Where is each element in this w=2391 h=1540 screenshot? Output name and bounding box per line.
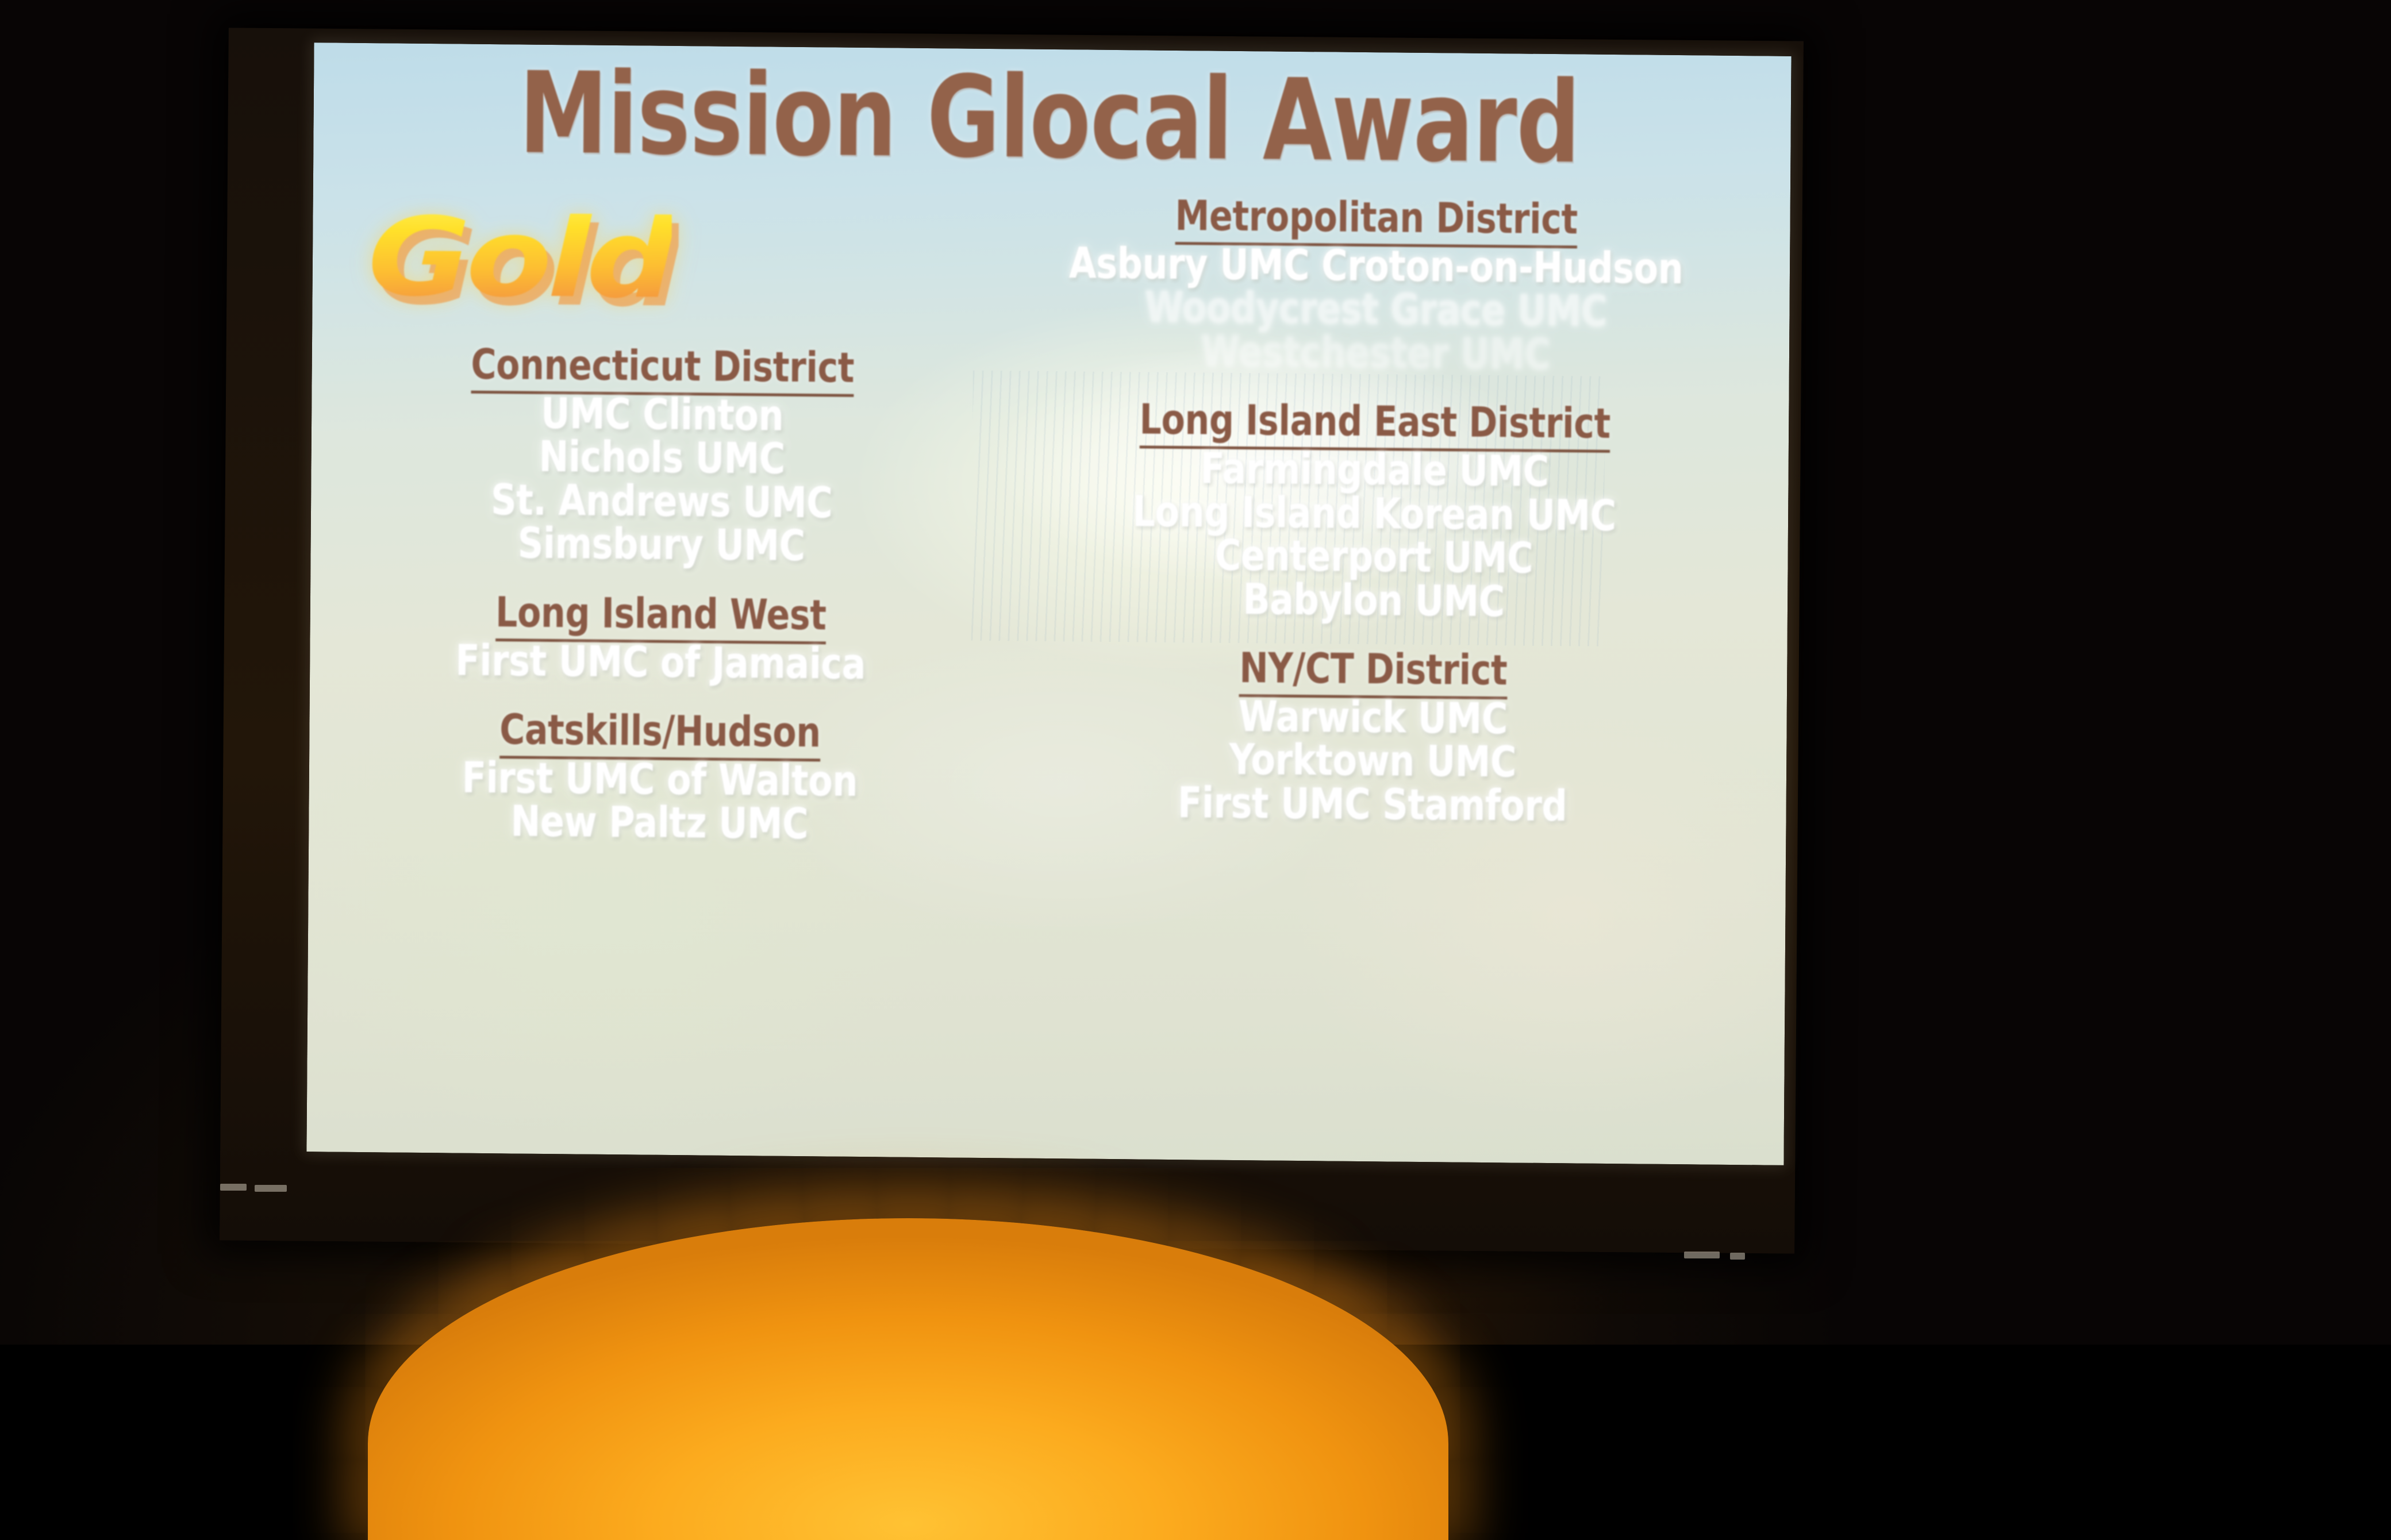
district-heading-label: Connecticut District: [471, 340, 854, 397]
left-district-column: Connecticut District UMC Clinton Nichols…: [337, 342, 985, 873]
church-item: Nichols UMC: [363, 434, 962, 483]
right-district-column: Metropolitan District Asbury UMC Croton-…: [981, 192, 1767, 856]
frame-rail-mark: [1684, 1252, 1720, 1258]
district-group-ny-ct: NY/CT District Warwick UMC Yorktown UMC …: [981, 644, 1764, 830]
frame-rail-mark: [255, 1185, 287, 1192]
church-item: Westchester UMC: [1012, 328, 1739, 378]
church-item: Babylon UMC: [1010, 576, 1737, 626]
district-heading-long-island-west: Long Island West: [362, 590, 960, 638]
district-group-long-island-west: Long Island West First UMC of Jamaica: [339, 589, 983, 687]
church-item: Yorktown UMC: [1009, 737, 1736, 787]
church-item: UMC Clinton: [363, 391, 962, 440]
district-heading-connecticut: Connecticut District: [363, 342, 962, 390]
church-item: Warwick UMC: [1009, 693, 1736, 743]
gold-award-wordmark: Gold: [367, 194, 672, 322]
church-item: Simsbury UMC: [362, 521, 961, 569]
district-heading-long-island-east: Long Island East District: [1012, 397, 1739, 447]
district-heading-label: Long Island West: [495, 588, 827, 644]
church-item: First UMC Stamford: [1009, 780, 1736, 830]
projection-screen-assembly: Mission Glocal Award Gold Connecticut Di…: [0, 0, 2391, 1345]
slide-content: Mission Glocal Award Gold Connecticut Di…: [306, 43, 1791, 1165]
district-heading-label: NY/CT District: [1239, 644, 1508, 699]
church-item: Farmingdale UMC: [1011, 446, 1738, 496]
district-group-connecticut: Connecticut District UMC Clinton Nichols…: [339, 342, 985, 570]
district-heading-catskills-hudson: Catskills/Hudson: [360, 707, 959, 755]
church-item: Woodycrest Grace UMC: [1012, 285, 1739, 335]
district-heading-metropolitan: Metropolitan District: [1013, 192, 1740, 242]
page-title: Mission Glocal Award: [437, 56, 1662, 180]
district-group-long-island-east: Long Island East District Farmingdale UM…: [983, 396, 1766, 626]
orange-lamp-dome: [368, 1218, 1448, 1540]
church-item: New Paltz UMC: [360, 799, 959, 848]
district-heading-ny-ct: NY/CT District: [1010, 644, 1737, 694]
district-heading-label: Catskills/Hudson: [499, 705, 821, 761]
church-item: Long Island Korean UMC: [1010, 489, 1737, 539]
frame-rail-mark: [1730, 1253, 1745, 1260]
church-item: First UMC of Jamaica: [361, 638, 960, 687]
frame-rail-mark: [220, 1184, 247, 1191]
district-group-metropolitan: Metropolitan District Asbury UMC Croton-…: [985, 192, 1767, 379]
church-item: First UMC of Walton: [360, 756, 959, 804]
church-item: Asbury UMC Croton-on-Hudson: [1012, 241, 1739, 291]
projected-slide: Mission Glocal Award Gold Connecticut Di…: [306, 43, 1791, 1165]
church-item: St. Andrews UMC: [362, 478, 961, 526]
church-item: Centerport UMC: [1010, 532, 1737, 582]
district-group-catskills-hudson: Catskills/Hudson First UMC of Walton New…: [337, 707, 982, 848]
